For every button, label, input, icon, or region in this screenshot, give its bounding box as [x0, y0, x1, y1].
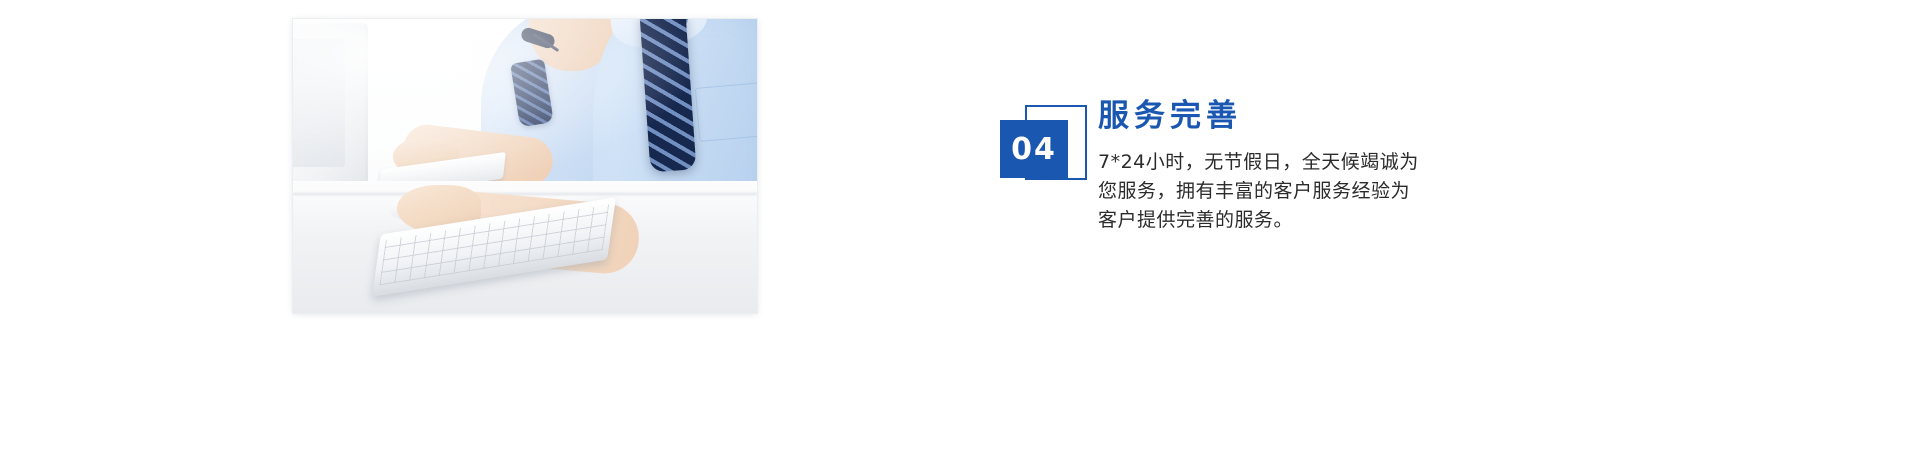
- feature-number-badge: 04: [1000, 120, 1068, 178]
- feature-description: 7*24小时，无节假日，全天候竭诚为 您服务，拥有丰富的客户服务经验为 客户提供…: [1098, 148, 1518, 235]
- feature-text-column: 服务完善 7*24小时，无节假日，全天候竭诚为 您服务，拥有丰富的客户服务经验为…: [1098, 96, 1518, 235]
- service-feature-banner: 04 服务完善 7*24小时，无节假日，全天候竭诚为 您服务，拥有丰富的客户服务…: [0, 0, 1920, 452]
- feature-description-line-1: 7*24小时，无节假日，全天候竭诚为: [1098, 148, 1518, 177]
- monitor-screen: [293, 39, 345, 167]
- feature-title: 服务完善: [1098, 96, 1518, 136]
- monitor-icon: [293, 23, 368, 201]
- desk-edge: [293, 193, 757, 195]
- photo-canvas: [293, 19, 757, 313]
- feature-description-line-2: 您服务，拥有丰富的客户服务经验为: [1098, 177, 1518, 206]
- feature-number-label: 04: [1000, 120, 1068, 178]
- feature-photo: [293, 19, 757, 313]
- feature-description-line-3: 客户提供完善的服务。: [1098, 206, 1518, 235]
- shirt-pocket: [695, 82, 757, 142]
